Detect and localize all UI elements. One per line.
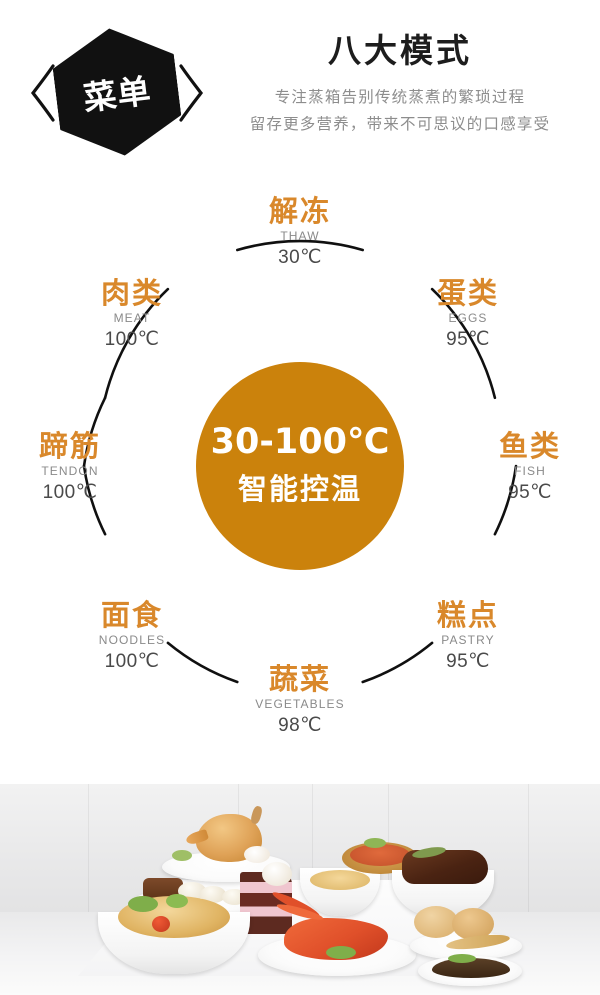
fish-garnish (448, 954, 476, 963)
header-text-block: 八大模式 专注蒸箱告别传统蒸煮的繁琐过程 留存更多营养，带来不可思议的口感享受 (200, 30, 600, 138)
food-photo (0, 784, 600, 995)
mode-node-noodles[interactable]: 面食 NOODLES 100℃ (47, 599, 217, 673)
wall-seam (528, 784, 529, 912)
mode-node-vegetables[interactable]: 蔬菜 VEGETABLES 98℃ (215, 663, 385, 737)
meringue (262, 862, 292, 886)
mode-temperature: 100℃ (47, 650, 217, 673)
garnish-herb (172, 850, 192, 861)
mode-label-en: MEAT (47, 311, 217, 325)
mode-node-pastry[interactable]: 糕点 PASTRY 95℃ (383, 599, 553, 673)
chevron-left-icon (30, 64, 56, 122)
mode-label-en: EGGS (383, 311, 553, 325)
mode-temperature: 95℃ (383, 650, 553, 673)
mode-label-cn: 蛋类 (383, 277, 553, 310)
center-temperature-badge: 30-100℃ 智能控温 (196, 362, 404, 570)
soup-broth (310, 870, 370, 890)
mode-node-meat[interactable]: 肉类 MEAT 100℃ (47, 277, 217, 351)
center-temperature-range: 30-100℃ (211, 424, 390, 461)
salad-greens (166, 894, 188, 908)
mode-node-fish[interactable]: 鱼类 FISH 95℃ (445, 430, 600, 504)
mode-temperature: 95℃ (383, 328, 553, 351)
cherry-tomato (152, 916, 170, 932)
mode-temperature: 100℃ (0, 481, 155, 504)
mode-label-cn: 鱼类 (445, 430, 600, 463)
mode-label-en: THAW (215, 229, 385, 243)
menu-badge: 菜单 (28, 22, 218, 167)
mode-label-en: VEGETABLES (215, 697, 385, 711)
subtitle-line-1: 专注蒸箱告别传统蒸煮的繁琐过程 (200, 84, 600, 111)
mode-label-cn: 肉类 (47, 277, 217, 310)
side-garnish (244, 846, 270, 863)
mode-label-cn: 面食 (47, 599, 217, 632)
mode-node-eggs[interactable]: 蛋类 EGGS 95℃ (383, 277, 553, 351)
mode-node-thaw[interactable]: 解冻 THAW 30℃ (215, 195, 385, 269)
mode-label-en: TENDON (0, 464, 155, 478)
mode-label-cn: 蹄筋 (0, 430, 155, 463)
mode-label-cn: 蔬菜 (215, 663, 385, 696)
mode-temperature: 100℃ (47, 328, 217, 351)
mode-label-en: FISH (445, 464, 600, 478)
center-temperature-caption: 智能控温 (238, 466, 362, 508)
mode-temperature: 98℃ (215, 714, 385, 737)
mode-temperature: 95℃ (445, 481, 600, 504)
subtitle-line-2: 留存更多营养，带来不可思议的口感享受 (200, 111, 600, 138)
modes-wheel-diagram: 30-100℃ 智能控温 解冻 THAW 30℃ 蛋类 EGGS 95℃ 鱼类 … (0, 185, 600, 780)
mode-label-en: PASTRY (383, 633, 553, 647)
salad-greens (128, 896, 158, 912)
menu-badge-label: 菜单 (49, 21, 186, 163)
wall-seam (88, 784, 89, 912)
chicken-tie (250, 805, 264, 825)
mode-temperature: 30℃ (215, 246, 385, 269)
mode-label-cn: 糕点 (383, 599, 553, 632)
lobster-garnish (326, 946, 356, 959)
mode-label-cn: 解冻 (215, 195, 385, 228)
header-section: 菜单 八大模式 专注蒸箱告别传统蒸煮的繁琐过程 留存更多营养，带来不可思议的口感… (0, 0, 600, 180)
pizza-herb (364, 838, 386, 848)
page-title: 八大模式 (200, 30, 600, 71)
mode-label-en: NOODLES (47, 633, 217, 647)
page-subtitle: 专注蒸箱告别传统蒸煮的繁琐过程 留存更多营养，带来不可思议的口感享受 (200, 84, 600, 137)
mode-node-tendon[interactable]: 蹄筋 TENDON 100℃ (0, 430, 155, 504)
